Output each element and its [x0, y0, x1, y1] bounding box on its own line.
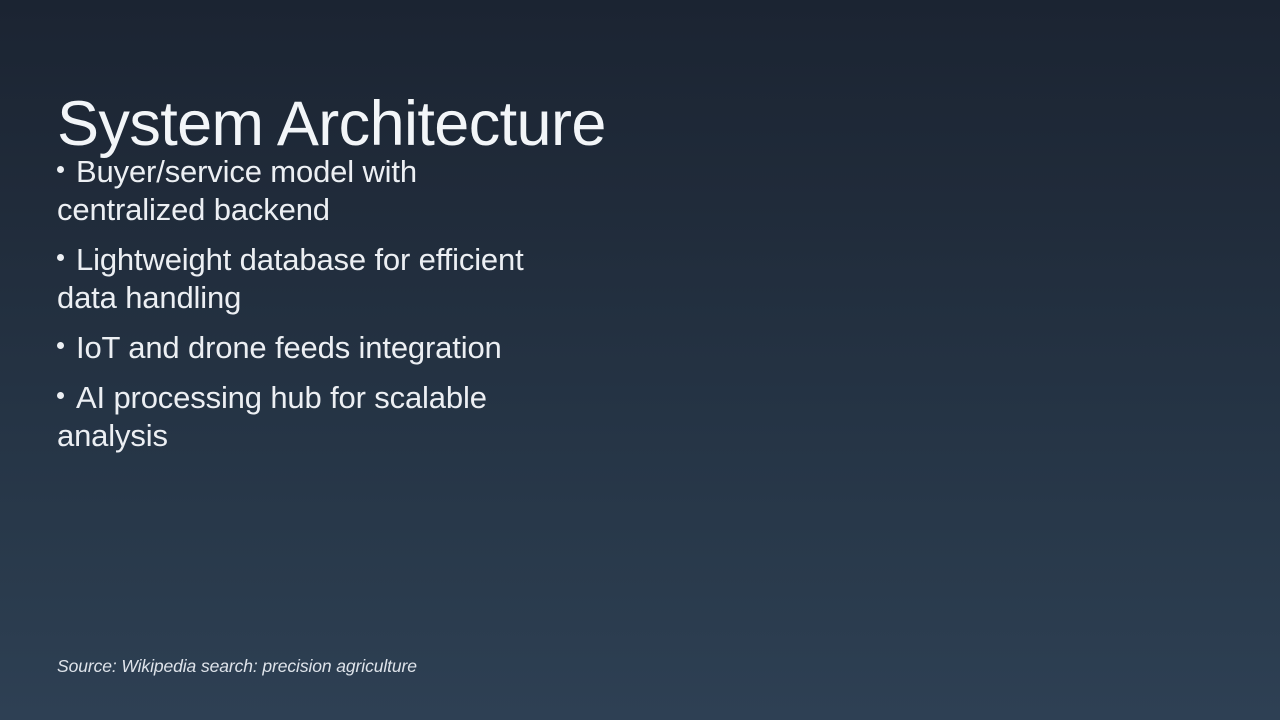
bullet-dot-icon	[57, 392, 64, 399]
slide-title: System Architecture	[57, 90, 957, 158]
bullet-dot-icon	[57, 254, 64, 261]
bullet-list-item: AI processing hub for scalable analysis	[57, 379, 567, 455]
bullet-dot-icon	[57, 342, 64, 349]
bullet-list-item: IoT and drone feeds integration	[57, 329, 567, 367]
presentation-slide: System Architecture Buyer/service model …	[0, 0, 1280, 720]
source-attribution: Source: Wikipedia search: precision agri…	[57, 656, 417, 677]
bullet-list: Buyer/service model with centralized bac…	[57, 153, 567, 455]
bullet-list-item-text: AI processing hub for scalable analysis	[57, 380, 487, 453]
bullet-list-item-text: IoT and drone feeds integration	[76, 330, 502, 365]
bullet-dot-icon	[57, 166, 64, 173]
bullet-list-item: Lightweight database for efficient data …	[57, 241, 567, 317]
bullet-list-item-text: Lightweight database for efficient data …	[57, 242, 524, 315]
bullet-list-item: Buyer/service model with centralized bac…	[57, 153, 567, 229]
bullet-list-item-text: Buyer/service model with centralized bac…	[57, 154, 417, 227]
